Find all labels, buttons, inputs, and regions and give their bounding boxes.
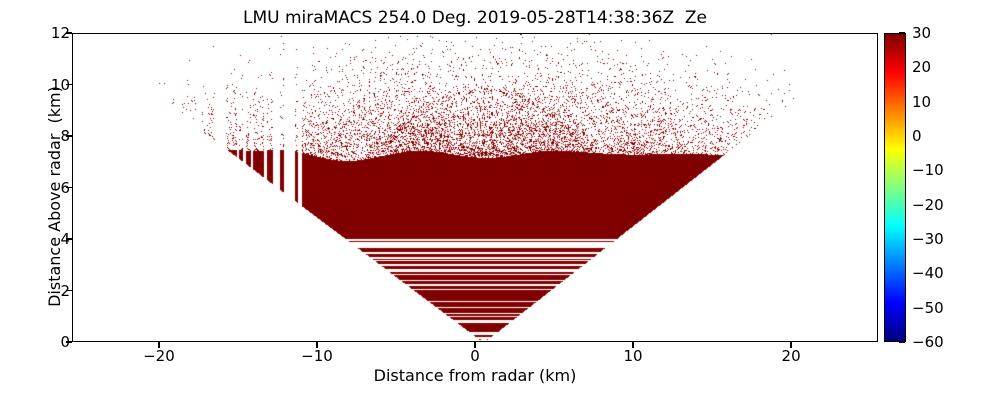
x-tick-label: −20 (143, 347, 175, 365)
y-tick-mark (66, 290, 72, 291)
colorbar-tick-label: −20 (912, 196, 944, 214)
x-tick-label: 0 (470, 347, 480, 365)
x-tick-label: 20 (782, 347, 801, 365)
colorbar-tick-label: −40 (912, 264, 944, 282)
x-tick-mark (158, 342, 159, 348)
x-tick-mark (474, 342, 475, 348)
y-tick-mark (66, 32, 72, 33)
y-tick-mark (66, 238, 72, 239)
colorbar-tick-label: 0 (912, 127, 922, 145)
x-tick-label: 10 (623, 347, 642, 365)
x-tick-label: −10 (301, 347, 333, 365)
plot-area (72, 33, 878, 342)
radar-rhi-figure: LMU miraMACS 254.0 Deg. 2019-05-28T14:38… (0, 0, 1000, 400)
x-tick-mark (790, 342, 791, 348)
y-axis-label: Distance Above radar (km) (45, 42, 64, 351)
colorbar-tick-label: −50 (912, 299, 944, 317)
colorbar-tick-label: −10 (912, 161, 944, 179)
radar-reflectivity-heatmap (73, 34, 878, 342)
colorbar-gradient (884, 33, 906, 342)
colorbar (884, 33, 906, 342)
colorbar-tick-label: 10 (912, 93, 931, 111)
y-tick-mark (66, 187, 72, 188)
colorbar-tick-label: 20 (912, 58, 931, 76)
colorbar-tick-label: −60 (912, 333, 944, 351)
colorbar-tick-label: −30 (912, 230, 944, 248)
y-tick-mark (66, 135, 72, 136)
y-tick-mark (66, 84, 72, 85)
y-tick-mark (66, 341, 72, 342)
x-tick-mark (316, 342, 317, 348)
x-tick-mark (632, 342, 633, 348)
page-title: LMU miraMACS 254.0 Deg. 2019-05-28T14:38… (72, 8, 878, 28)
x-axis-label: Distance from radar (km) (72, 366, 878, 385)
colorbar-tick-label: 30 (912, 24, 931, 42)
